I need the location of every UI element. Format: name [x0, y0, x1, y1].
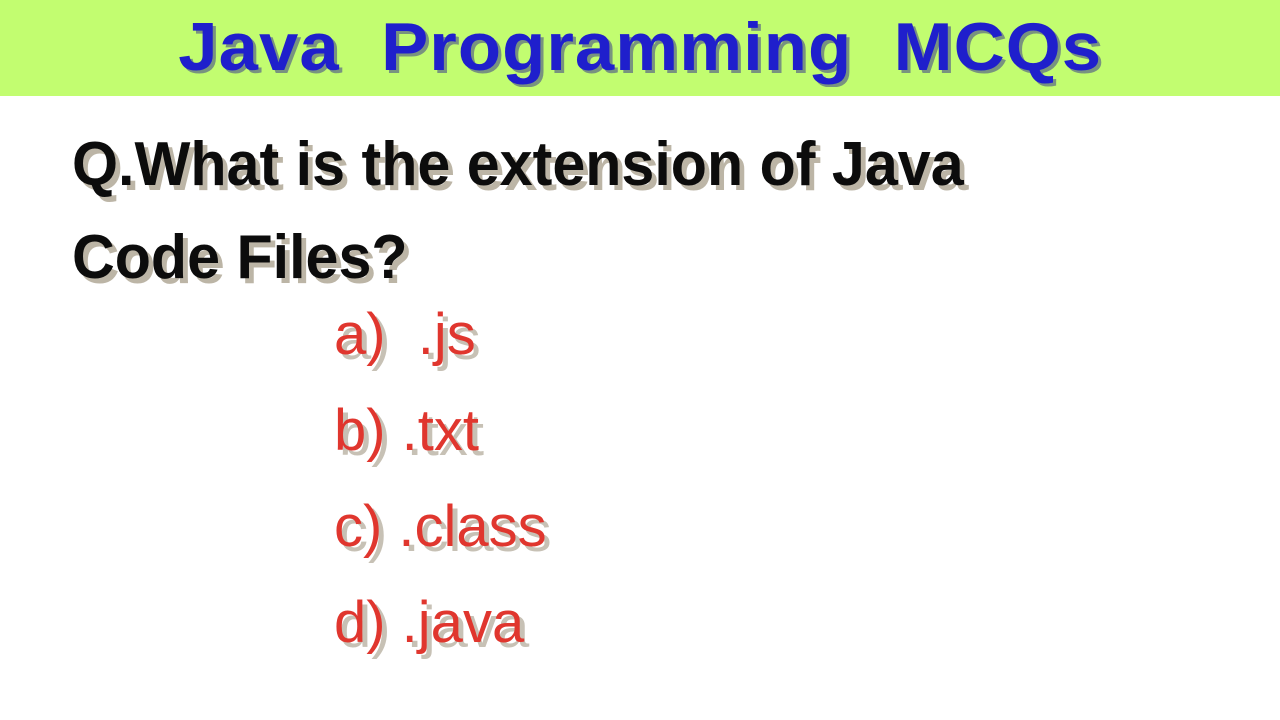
option-b[interactable]: b) .txt	[334, 396, 1194, 492]
header-banner: Java Programming MCQs	[0, 0, 1280, 96]
option-b-text: b) .txt	[334, 396, 479, 466]
page-title: Java Programming MCQs	[178, 13, 1102, 81]
options-list: a) .js b) .txt c) .class d) .java	[334, 300, 1194, 684]
option-d[interactable]: d) .java	[334, 588, 1194, 684]
option-a-text: a) .js	[334, 300, 476, 370]
option-c[interactable]: c) .class	[334, 492, 1194, 588]
question-line-2: Code Files?	[72, 211, 1142, 304]
option-a[interactable]: a) .js	[334, 300, 1194, 396]
option-d-text: d) .java	[334, 588, 524, 658]
mcq-slide: Java Programming MCQs Q.What is the exte…	[0, 0, 1280, 720]
option-c-text: c) .class	[334, 492, 547, 562]
question-block: Q.What is the extension of Java Code Fil…	[72, 118, 1192, 304]
question-line-1: Q.What is the extension of Java	[72, 118, 1142, 211]
